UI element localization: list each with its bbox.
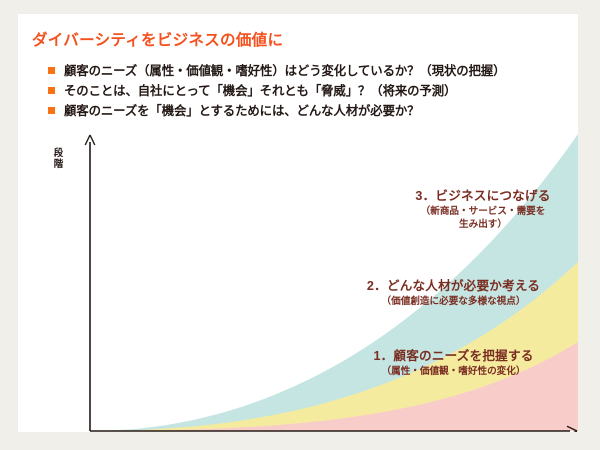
list-item-label: そのことは、自社にとって「機会」それとも「脅威」？（将来の予測） [64, 84, 456, 98]
square-bullet-icon [48, 107, 55, 114]
area-band-3-caption: 3．ビジネスにつなげる （新商品・サービス・需要を 生み出す） [388, 188, 578, 231]
list-item: 顧客のニーズを「機会」とするためには、どんな人材が必要か？ [48, 101, 568, 121]
bullet-list: 顧客のニーズ（属性・価値観・嗜好性）はどう変化しているか？（現状の把握） そのこ… [48, 61, 568, 121]
area-band-2-title: 2．どんな人材が必要か考える [336, 278, 571, 295]
list-item-label: 顧客のニーズ（属性・価値観・嗜好性）はどう変化しているか？（現状の把握） [64, 64, 505, 78]
area-band-3-subtitle-line1: （新商品・サービス・需要を [388, 205, 578, 218]
square-bullet-icon [48, 67, 55, 74]
area-band-3-title: 3．ビジネスにつなげる [388, 188, 578, 205]
area-band-1-caption: 1．顧客のニーズを把握する （属性・価値観・嗜好性の変化） [336, 348, 571, 378]
area-band-1-title: 1．顧客のニーズを把握する [336, 348, 571, 365]
area-band-2-subtitle: （価値創造に必要な多様な視点） [336, 295, 571, 308]
list-item: 顧客のニーズ（属性・価値観・嗜好性）はどう変化しているか？（現状の把握） [48, 61, 568, 81]
growth-stage-area-chart: 段階 3．ビジネスにつなげる （新商品・サービス・需要を 生み出す） 2．どんな… [36, 126, 578, 432]
slide-panel: ダイバーシティをビジネスの価値に 顧客のニーズ（属性・価値観・嗜好性）はどう変化… [18, 14, 578, 432]
area-band-3-subtitle-line2: 生み出す） [388, 218, 578, 231]
page-title: ダイバーシティをビジネスの価値に [32, 28, 283, 50]
list-item: そのことは、自社にとって「機会」それとも「脅威」？（将来の予測） [48, 81, 568, 101]
list-item-label: 顧客のニーズを「機会」とするためには、どんな人材が必要か？ [64, 104, 419, 118]
square-bullet-icon [48, 87, 55, 94]
area-band-2-caption: 2．どんな人材が必要か考える （価値創造に必要な多様な視点） [336, 278, 571, 308]
area-band-1-subtitle: （属性・価値観・嗜好性の変化） [336, 365, 571, 378]
y-axis-label: 段階 [52, 148, 65, 170]
slide-root: ダイバーシティをビジネスの価値に 顧客のニーズ（属性・価値観・嗜好性）はどう変化… [0, 0, 600, 450]
